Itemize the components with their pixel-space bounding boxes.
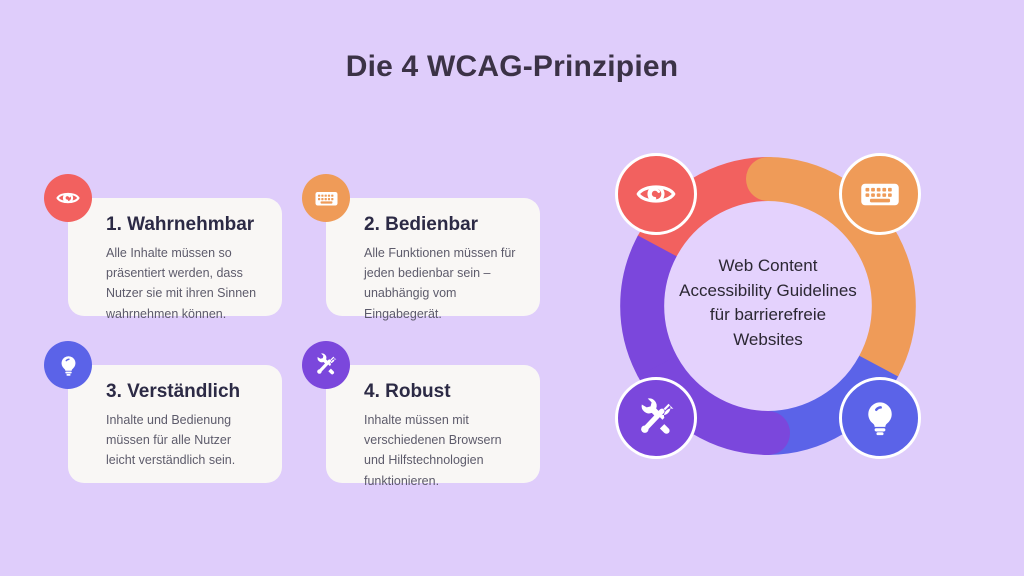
eye-icon (44, 174, 92, 222)
lightbulb-icon (44, 341, 92, 389)
principle-description: Alle Funktionen müssen für jeden bedienb… (364, 243, 520, 324)
principle-description: Inhalte und Bedienung müssen für alle Nu… (106, 410, 262, 471)
principle-title: 2. Bedienbar (364, 214, 520, 236)
donut-center-line-1: Web Content (650, 254, 886, 279)
principle-card-wahrnehmbar[interactable]: 1. Wahrnehmbar Alle Inhalte müssen so pr… (68, 198, 282, 316)
principle-title: 3. Verständlich (106, 381, 262, 403)
ring-tools-icon[interactable] (615, 377, 697, 459)
principle-card-bedienbar[interactable]: 2. Bedienbar Alle Funktionen müssen für … (326, 198, 540, 316)
principle-card-verstaendlich[interactable]: 3. Verständlich Inhalte und Bedienung mü… (68, 365, 282, 483)
page-title: Die 4 WCAG-Prinzipien (0, 50, 1024, 84)
ring-eye-icon[interactable] (615, 153, 697, 235)
donut-center-label: Web Content Accessibility Guidelines für… (650, 254, 886, 353)
donut-center-line-2: Accessibility Guidelines (650, 279, 886, 304)
wcag-donut-chart: Web Content Accessibility Guidelines für… (598, 136, 938, 476)
infographic-canvas: Die 4 WCAG-Prinzipien 1. Wahrnehmbar All… (0, 0, 1024, 576)
principle-description: Inhalte müssen mit verschiedenen Browser… (364, 410, 520, 491)
principle-description: Alle Inhalte müssen so präsentiert werde… (106, 243, 262, 324)
principle-title: 1. Wahrnehmbar (106, 214, 262, 236)
ring-keyboard-icon[interactable] (839, 153, 921, 235)
donut-center-line-4: Websites (650, 328, 886, 353)
principle-card-robust[interactable]: 4. Robust Inhalte müssen mit verschieden… (326, 365, 540, 483)
donut-center-line-3: für barrierefreie (650, 303, 886, 328)
principle-title: 4. Robust (364, 381, 520, 403)
tools-icon (302, 341, 350, 389)
ring-lightbulb-icon[interactable] (839, 377, 921, 459)
keyboard-icon (302, 174, 350, 222)
